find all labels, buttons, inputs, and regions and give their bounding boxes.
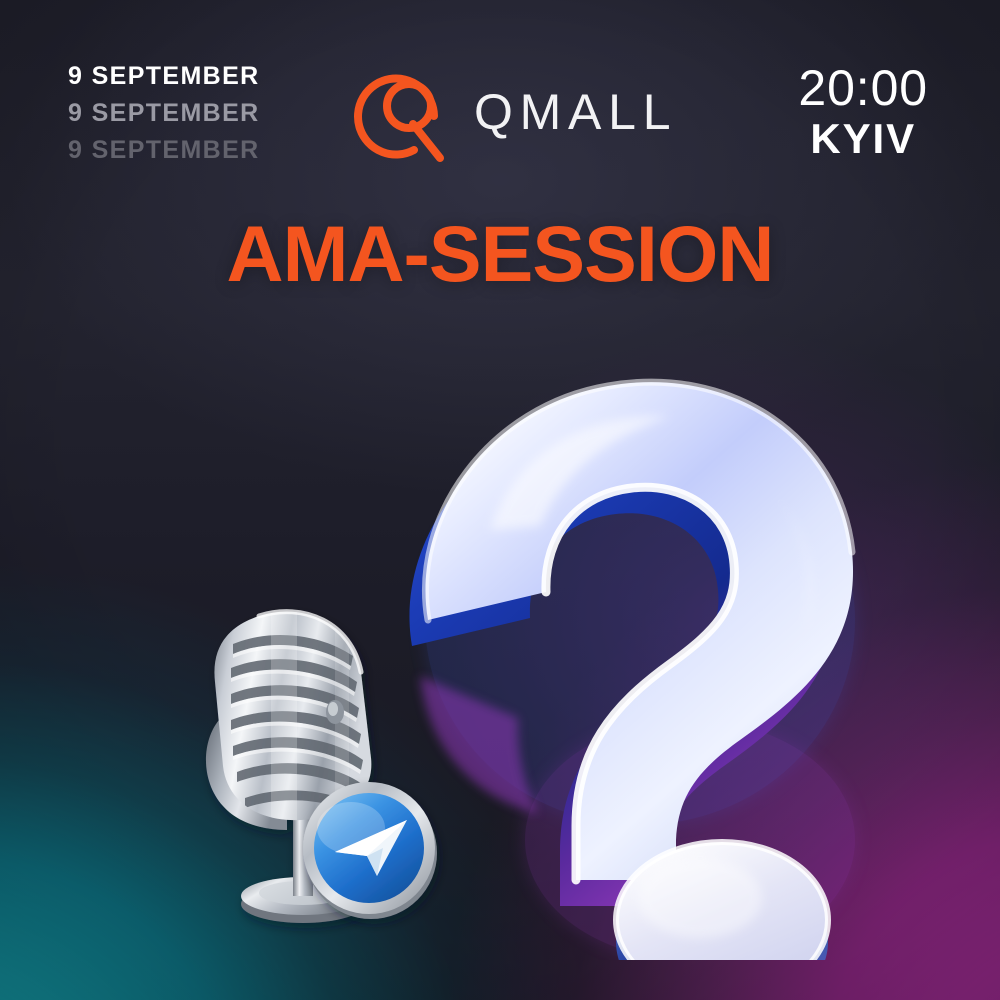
event-date-line-3: 9 SEPTEMBER xyxy=(68,134,260,167)
retro-microphone-3d-icon xyxy=(175,600,465,940)
event-date-line-1: 9 SEPTEMBER xyxy=(68,60,260,93)
event-city: KYIV xyxy=(810,115,916,162)
event-time: 20:00 xyxy=(798,62,928,115)
poster-header: 9 SEPTEMBER 9 SEPTEMBER 9 SEPTEMBER QMAL… xyxy=(0,0,1000,190)
qmall-wordmark: QMALL xyxy=(474,87,677,137)
qmall-brand-logo: QMALL xyxy=(352,62,677,162)
qmall-q-logo-icon xyxy=(352,62,448,162)
event-time-block: 20:00 KYIV xyxy=(798,62,928,162)
event-date-block: 9 SEPTEMBER 9 SEPTEMBER 9 SEPTEMBER xyxy=(68,60,260,167)
event-date-line-2: 9 SEPTEMBER xyxy=(68,97,260,130)
page-title: AMA-SESSION xyxy=(0,214,1000,293)
poster-canvas: 9 SEPTEMBER 9 SEPTEMBER 9 SEPTEMBER QMAL… xyxy=(0,0,1000,1000)
